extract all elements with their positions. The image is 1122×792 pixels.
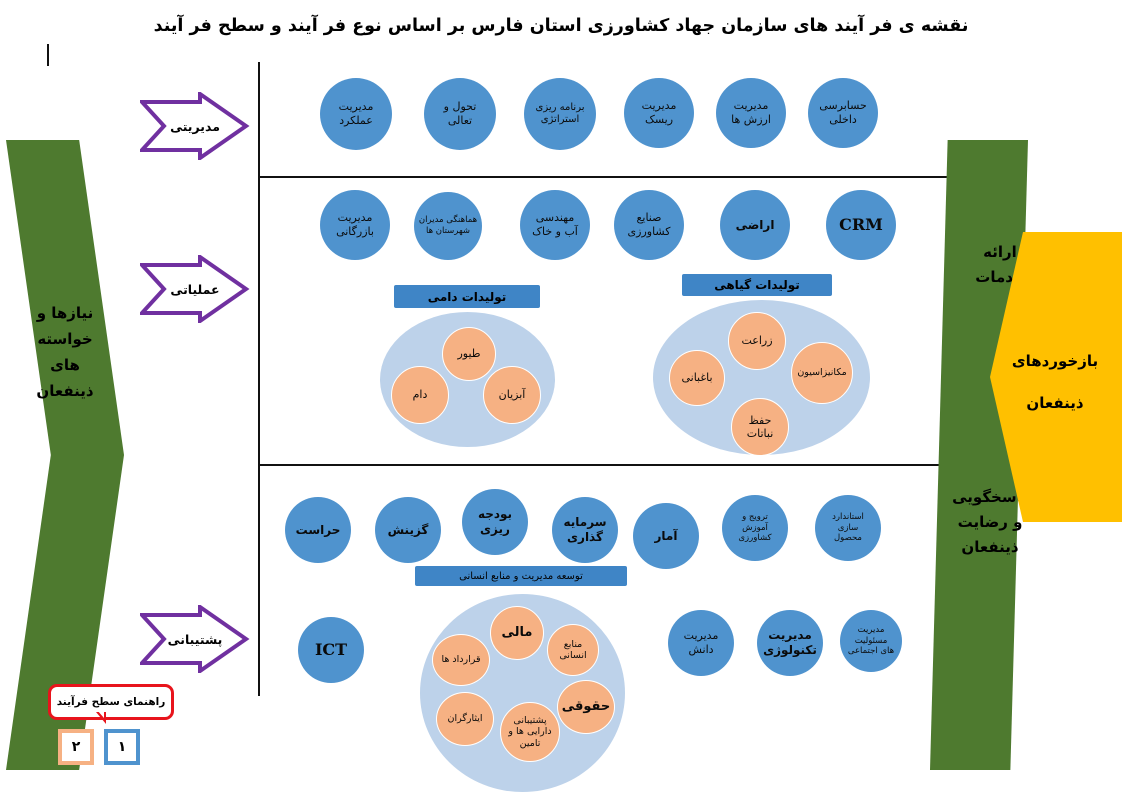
- circle-line-3: های اجتماعی: [848, 646, 894, 657]
- circle-line-2: تعالی: [444, 114, 477, 128]
- process-circle-investment[interactable]: سرمایه گذاری: [552, 497, 618, 563]
- group-header-hr-label: توسعه مدیریت و منابع انسانی: [459, 571, 583, 582]
- sub-circle-livestock[interactable]: دام: [391, 366, 449, 424]
- stakeholder-needs-line-2: خواسته: [6, 326, 124, 352]
- circle-line-2: ریسک: [642, 113, 677, 127]
- process-circle-security[interactable]: حراست: [285, 497, 351, 563]
- circle-line-1: گزینش: [388, 523, 429, 538]
- circle-line-1: مدیریت: [731, 99, 771, 113]
- group-header-animal-label: تولیدات دامی: [428, 290, 507, 304]
- horizontal-divider-operational: [258, 464, 986, 466]
- circle-line-3: کشاورزی: [738, 533, 771, 544]
- circle-line-1: حراست: [296, 523, 341, 538]
- legend-title-bubble: راهنمای سطح فرآیند: [48, 684, 174, 720]
- vertical-divider: [258, 62, 260, 696]
- circle-line-2: ریزی: [478, 522, 512, 537]
- stakeholder-needs-band: [6, 140, 124, 770]
- process-circle-statistics[interactable]: آمار: [633, 503, 699, 569]
- sub-circle-plant-protection[interactable]: حفظ نباتات: [731, 398, 789, 456]
- circle-line-1: ترویج و: [738, 512, 771, 523]
- legend-level-one-label: ۱: [118, 739, 127, 755]
- circle-line-2: تکنولوژی: [763, 643, 817, 658]
- sub-line-1: طیور: [457, 347, 480, 360]
- process-circle-agricultural-industries[interactable]: صنایع کشاورزی: [614, 190, 684, 260]
- process-map-canvas: نقشه ی فر آیند های سازمان جهاد کشاورزی ا…: [0, 0, 1122, 790]
- circle-line-1: مدیریت: [684, 629, 719, 643]
- circle-line-3: محصول: [832, 533, 864, 544]
- sub-circle-veterans[interactable]: ایثارگران: [436, 692, 494, 746]
- circle-line-1: حسابرسی: [819, 99, 866, 113]
- process-circle-selection[interactable]: گزینش: [375, 497, 441, 563]
- sub-circle-aquatics[interactable]: آبزیان: [483, 366, 541, 424]
- circle-line-1: بودجه: [478, 507, 512, 522]
- legend-swatch-level-one: ۱: [104, 729, 140, 765]
- level-arrow-operational-label: عملیاتی: [140, 255, 250, 323]
- circle-line-2: داخلی: [819, 113, 866, 127]
- legend-bubble-tail-inner: [97, 710, 104, 718]
- group-header-plant-production: تولیدات گیاهی: [682, 274, 832, 296]
- sub-line-1: قرارداد ها: [441, 654, 480, 665]
- level-arrow-operational: عملیاتی: [140, 255, 250, 323]
- circle-line-1: صنایع: [628, 211, 671, 225]
- circle-line-2: دانش: [684, 643, 719, 657]
- circle-line-2: سازی: [832, 523, 864, 534]
- process-circle-internal-audit[interactable]: حسابرسی داخلی: [808, 78, 878, 148]
- stakeholder-needs-line-4: ذینفعان: [6, 378, 124, 404]
- group-header-hr-development: توسعه مدیریت و منابع انسانی: [415, 566, 627, 586]
- sub-circle-contracts[interactable]: قرارداد ها: [432, 634, 490, 686]
- process-circle-product-standardization[interactable]: استاندارد سازی محصول: [815, 495, 881, 561]
- process-circle-commercial-management[interactable]: مدیریت بازرگانی: [320, 190, 390, 260]
- feedback-line-1: بازخوردهای: [985, 340, 1122, 382]
- process-circle-values-management[interactable]: مدیریت ارزش ها: [716, 78, 786, 148]
- process-circle-technology-management[interactable]: مدیریت تکنولوژی: [757, 610, 823, 676]
- process-circle-ict[interactable]: ICT: [298, 617, 364, 683]
- sub-circle-finance[interactable]: مالی: [490, 606, 544, 660]
- circle-line-1: مدیریت: [339, 100, 374, 114]
- legend-level-two-label: ۲: [72, 739, 81, 755]
- process-circle-social-responsibility[interactable]: مدیریت مسئولیت های اجتماعی: [840, 610, 902, 672]
- circle-line-2: ارزش ها: [731, 113, 771, 127]
- sub-circle-horticulture[interactable]: باغبانی: [669, 350, 725, 406]
- sub-line-1: دام: [413, 388, 428, 401]
- horizontal-divider-managerial: [258, 176, 986, 178]
- level-arrow-managerial: مدیریتی: [140, 92, 250, 160]
- circle-line-1: مدیریت: [642, 99, 677, 113]
- process-circle-crm[interactable]: CRM: [826, 190, 896, 260]
- process-circle-risk-management[interactable]: مدیریت ریسک: [624, 78, 694, 148]
- stakeholder-needs-line-1: نیازها و: [6, 300, 124, 326]
- circle-line-1: مهندسی: [532, 211, 578, 225]
- circle-line-2: مسئولیت: [848, 636, 894, 647]
- process-circle-water-soil-engineering[interactable]: مهندسی آب و خاک: [520, 190, 590, 260]
- sub-line-1: پشتیبانی: [508, 715, 551, 726]
- legend-swatch-level-two: ۲: [58, 729, 94, 765]
- sub-circle-human-resources[interactable]: منابع انسانی: [547, 624, 599, 676]
- sub-line-2: دارایی ها و: [508, 726, 551, 737]
- feedback-line-2: ذینفعان: [985, 382, 1122, 424]
- circle-line-1: ICT: [315, 640, 347, 660]
- text-cursor: [47, 44, 49, 66]
- circle-line-2: کشاورزی: [628, 225, 671, 239]
- circle-line-2: بازرگانی: [336, 225, 374, 239]
- stakeholder-needs-label: نیازها و خواسته های ذینفعان: [6, 300, 124, 404]
- process-circle-transformation-excellence[interactable]: تحول و تعالی: [424, 78, 496, 150]
- page-title: نقشه ی فر آیند های سازمان جهاد کشاورزی ا…: [0, 16, 1122, 36]
- sub-line-1: آبزیان: [499, 388, 526, 401]
- process-circle-strategic-planning[interactable]: برنامه ریزی استراتژی: [524, 78, 596, 150]
- circle-line-2: استراتژی: [536, 114, 585, 127]
- circle-line-1: تحول و: [444, 100, 477, 114]
- circle-line-1: مدیریت: [763, 628, 817, 643]
- sub-circle-assets-supply-support[interactable]: پشتیبانی دارایی ها و تامین: [500, 702, 560, 762]
- sub-line-1: باغبانی: [681, 371, 712, 384]
- group-header-plant-label: تولیدات گیاهی: [714, 278, 800, 292]
- process-circle-budgeting[interactable]: بودجه ریزی: [462, 489, 528, 555]
- circle-line-1: مدیریت: [848, 625, 894, 636]
- circle-line-1: مدیریت: [336, 211, 374, 225]
- sub-line-1: زراعت: [741, 334, 772, 347]
- accountability-line-3: ذینفعان: [935, 535, 1045, 560]
- circle-line-1: استاندارد: [832, 512, 864, 523]
- level-arrow-support-label: پشتیبانی: [140, 605, 250, 673]
- circle-line-1: اراضی: [736, 218, 775, 233]
- level-arrow-support: پشتیبانی: [140, 605, 250, 673]
- sub-line-3: تامین: [508, 738, 551, 749]
- group-header-animal-production: تولیدات دامی: [394, 285, 540, 308]
- sub-line-1: حفظ: [747, 414, 774, 427]
- legend-title: راهنمای سطح فرآیند: [57, 696, 166, 708]
- level-arrow-managerial-label: مدیریتی: [140, 92, 250, 160]
- circle-line-2: آموزش: [738, 523, 771, 534]
- process-circle-performance-management[interactable]: مدیریت عملکرد: [320, 78, 392, 150]
- circle-line-1: برنامه ریزی: [536, 102, 585, 115]
- circle-line-1: CRM: [839, 215, 883, 235]
- sub-circle-legal[interactable]: حقوقی: [557, 680, 615, 734]
- circle-line-2: عملکرد: [339, 114, 374, 128]
- sub-circle-poultry[interactable]: طیور: [442, 327, 496, 381]
- process-circle-extension-education[interactable]: ترویج و آموزش کشاورزی: [722, 495, 788, 561]
- sub-line-2: انسانی: [559, 650, 586, 661]
- circle-line-2: گذاری: [564, 530, 607, 545]
- sub-line-1: مالی: [502, 625, 533, 641]
- sub-line-1: مکانیزاسیون: [797, 367, 846, 378]
- sub-line-1: ایثارگران: [448, 713, 483, 724]
- sub-circle-farming[interactable]: زراعت: [728, 312, 786, 370]
- process-circle-city-managers-coordination[interactable]: هماهنگی مدیران شهرستان ها: [414, 192, 482, 260]
- stakeholder-needs-line-3: های: [6, 352, 124, 378]
- circle-line-1: سرمایه: [564, 515, 607, 530]
- sub-circle-mechanization[interactable]: مکانیزاسیون: [791, 342, 853, 404]
- sub-line-1: منابع: [559, 639, 586, 650]
- circle-line-1: هماهنگی مدیران: [419, 215, 477, 226]
- process-circle-lands[interactable]: اراضی: [720, 190, 790, 260]
- sub-line-2: نباتات: [747, 427, 774, 440]
- sub-line-1: حقوقی: [562, 699, 611, 715]
- circle-line-2: آب و خاک: [532, 225, 578, 239]
- circle-line-1: آمار: [655, 529, 678, 544]
- stakeholder-feedback-label: بازخوردهای ذینفعان: [985, 340, 1122, 424]
- process-circle-knowledge-management[interactable]: مدیریت دانش: [668, 610, 734, 676]
- circle-line-2: شهرستان ها: [419, 226, 477, 237]
